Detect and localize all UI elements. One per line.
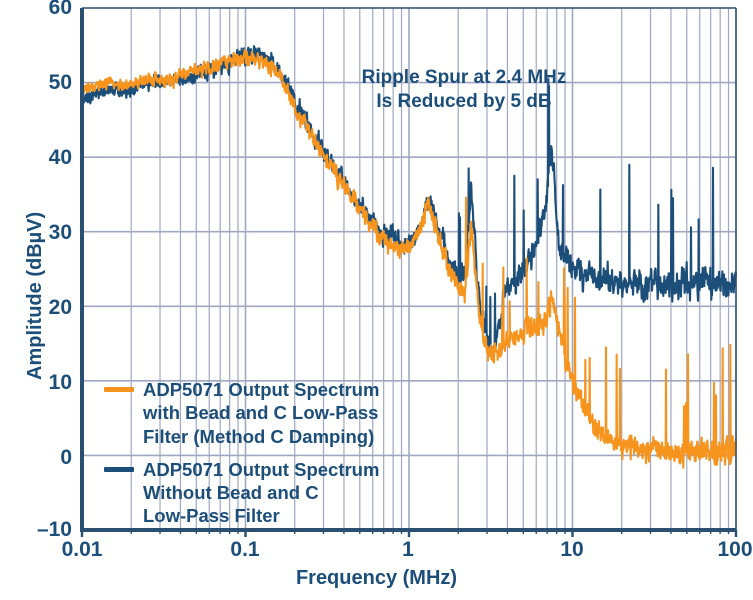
annotation-line-1: Ripple Spur at 2.4 MHz [330, 66, 598, 90]
legend-swatch-orange [104, 387, 134, 392]
ripple-spur-annotation: Ripple Spur at 2.4 MHz Is Reduced by 5 d… [330, 66, 598, 115]
legend-item-without-filter: ADP5071 Output Spectrum Without Bead and… [104, 458, 424, 528]
legend-line-3: Filter (Method C Damping) [143, 426, 374, 447]
legend-swatch-navy [104, 467, 134, 472]
legend-line-1: ADP5071 Output Spectrum [143, 459, 379, 480]
chart-legend: ADP5071 Output Spectrum with Bead and C … [104, 378, 424, 538]
x-tick-100: 100 [699, 538, 753, 562]
annotation-line-2: Is Reduced by 5 dB [330, 90, 598, 114]
x-tick-0p1: 0.1 [209, 538, 281, 562]
spectrum-chart-figure: 60 50 40 30 20 10 0 –10 0.01 0.1 1 10 10… [0, 0, 753, 600]
y-tick-50: 50 [4, 71, 72, 95]
legend-line-3: Low-Pass Filter [143, 505, 280, 526]
legend-item-with-filter: ADP5071 Output Spectrum with Bead and C … [104, 378, 424, 448]
legend-line-2: with Bead and C Low-Pass [143, 402, 378, 423]
x-tick-10: 10 [536, 538, 608, 562]
y-tick-0: 0 [4, 446, 72, 470]
x-tick-0p01: 0.01 [46, 538, 118, 562]
legend-label-without-filter: ADP5071 Output Spectrum Without Bead and… [143, 458, 379, 528]
y-tick-40: 40 [4, 146, 72, 170]
legend-line-2: Without Bead and C [143, 482, 319, 503]
y-axis-title: Amplitude (dBµV) [24, 212, 47, 380]
legend-line-1: ADP5071 Output Spectrum [143, 379, 379, 400]
y-tick-60: 60 [4, 0, 72, 20]
legend-label-with-filter: ADP5071 Output Spectrum with Bead and C … [143, 378, 379, 448]
x-tick-1: 1 [372, 538, 444, 562]
x-axis-title: Frequency (MHz) [0, 567, 753, 590]
